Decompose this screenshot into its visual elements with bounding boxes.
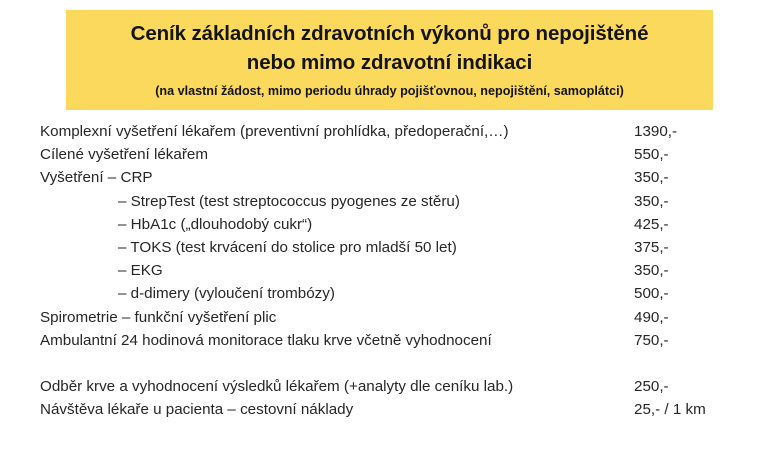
page-title-line-2: nebo mimo zdravotní indikaci (76, 48, 703, 77)
price-row-label: Komplexní vyšetření lékařem (preventivní… (40, 120, 509, 143)
price-row-value: 375,- (634, 236, 669, 259)
price-row: Vyšetření – CRP350,- (0, 166, 761, 189)
price-row-value: 500,- (634, 282, 669, 305)
header-banner: Ceník základních zdravotních výkonů pro … (66, 10, 713, 110)
price-row-value: 490,- (634, 306, 669, 329)
price-row: – TOKS (test krvácení do stolice pro mla… (0, 236, 761, 259)
price-row-label: Cílené vyšetření lékařem (40, 143, 208, 166)
price-row: Odběr krve a vyhodnocení výsledků lékaře… (0, 375, 761, 398)
price-row: – d-dimery (vyloučení trombózy)500,- (0, 282, 761, 305)
price-row: – HbA1c („dlouhodobý cukr“)425,- (0, 213, 761, 236)
price-row-value: 750,- (634, 329, 669, 352)
price-row: Návštěva lékaře u pacienta – cestovní ná… (0, 398, 761, 421)
price-row-sublabel: – HbA1c („dlouhodobý cukr“) (118, 213, 312, 236)
price-row-value: 350,- (634, 259, 669, 282)
price-row-label: Návštěva lékaře u pacienta – cestovní ná… (40, 398, 353, 421)
price-row-value: 550,- (634, 143, 669, 166)
price-list: Komplexní vyšetření lékařem (preventivní… (0, 120, 761, 421)
price-row-value: 250,- (634, 375, 669, 398)
price-row-sublabel: – StrepTest (test streptococcus pyogenes… (118, 190, 460, 213)
page-title-line-1: Ceník základních zdravotních výkonů pro … (76, 19, 703, 48)
price-row-label: Ambulantní 24 hodinová monitorace tlaku … (40, 329, 492, 352)
price-row: Komplexní vyšetření lékařem (preventivní… (0, 120, 761, 143)
price-row-value: 25,- / 1 km (634, 398, 706, 421)
price-row-value: 1390,- (634, 120, 677, 143)
price-row-sublabel: – TOKS (test krvácení do stolice pro mla… (118, 236, 457, 259)
price-row: Spirometrie – funkční vyšetření plic490,… (0, 306, 761, 329)
price-row-sublabel: – EKG (118, 259, 163, 282)
page-subtitle: (na vlastní žádost, mimo periodu úhrady … (76, 82, 703, 100)
price-row: Ambulantní 24 hodinová monitorace tlaku … (0, 329, 761, 352)
price-row: – StrepTest (test streptococcus pyogenes… (0, 190, 761, 213)
price-row-value: 350,- (634, 190, 669, 213)
price-row-label: Spirometrie – funkční vyšetření plic (40, 306, 276, 329)
price-row-sublabel: – d-dimery (vyloučení trombózy) (118, 282, 335, 305)
price-row-value: 350,- (634, 166, 669, 189)
price-row-label: Odběr krve a vyhodnocení výsledků lékaře… (40, 375, 513, 398)
price-row-value: 425,- (634, 213, 669, 236)
price-row-label: Vyšetření – CRP (40, 166, 153, 189)
price-row-spacer (0, 352, 761, 375)
price-row: – EKG350,- (0, 259, 761, 282)
price-row: Cílené vyšetření lékařem550,- (0, 143, 761, 166)
